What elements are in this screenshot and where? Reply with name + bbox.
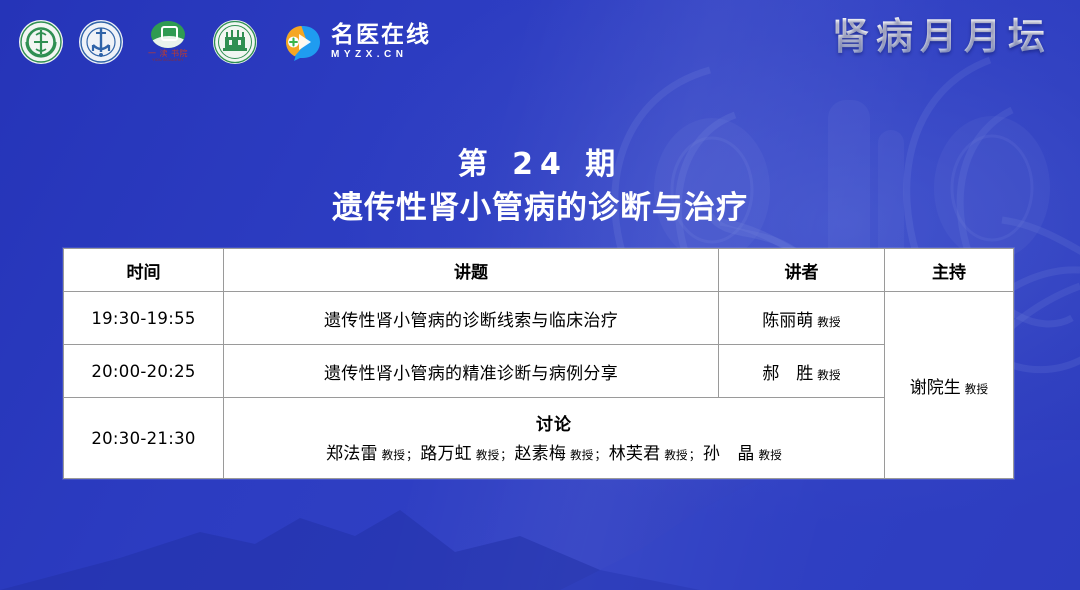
myzx-play-bubble-icon (282, 22, 322, 62)
session-time: 19:30-19:55 (64, 292, 224, 345)
column-header-time: 时间 (64, 249, 224, 292)
session-topic: 遗传性肾小管病的诊断与治疗 (0, 189, 1080, 228)
table-row: 20:00-20:25 遗传性肾小管病的精准诊断与病例分享 郝 胜教授 (64, 345, 1014, 398)
academy-name-cn: 一 渎 书院 (148, 50, 188, 58)
speaker-name: 陈丽萌 (762, 311, 813, 331)
discussion-time: 20:30-21:30 (64, 398, 224, 479)
panelist-rank: 教授 (759, 448, 782, 462)
discussion-panelists: 郑法雷教授；路万虹教授；赵素梅教授；林芙君教授；孙 晶教授 (326, 439, 782, 464)
hospital-emblem-green-2-icon (212, 19, 258, 65)
session-speaker: 陈丽萌教授 (719, 292, 885, 345)
page-header: 一 渎 书院 YIDU ACADEMY (0, 0, 1080, 84)
yi-academy-logo-icon: 一 渎 书院 YIDU ACADEMY (138, 17, 198, 67)
slide-canvas: 一 渎 书院 YIDU ACADEMY (0, 0, 1080, 590)
panelist-rank: 教授 (570, 448, 593, 462)
panelist-name: 林芙君 (609, 444, 661, 464)
brand-name-cn: 名医在线 (331, 23, 431, 47)
column-header-topic: 讲题 (224, 249, 719, 292)
myzx-brand: 名医在线 MYZX.CN (282, 22, 431, 62)
session-host: 谢院生教授 (885, 292, 1014, 479)
panelist-name: 郑法雷 (326, 444, 378, 464)
academy-name-en: YIDU ACADEMY (152, 58, 184, 64)
title-block: 第 24 期 遗传性肾小管病的诊断与治疗 (0, 146, 1080, 227)
panelist-name: 赵素梅 (514, 444, 566, 464)
speaker-rank: 教授 (817, 315, 840, 329)
session-topic-cell: 遗传性肾小管病的精准诊断与病例分享 (224, 345, 719, 398)
discussion-cell: 讨论 郑法雷教授；路万虹教授；赵素梅教授；林芙君教授；孙 晶教授 (224, 398, 885, 479)
hospital-emblem-blue-icon (78, 19, 124, 65)
speaker-rank: 教授 (817, 368, 840, 382)
panelist-rank: 教授 (664, 448, 687, 462)
panelist-separator: ； (406, 448, 418, 462)
panelist-rank: 教授 (476, 448, 499, 462)
column-header-host: 主持 (885, 249, 1014, 292)
session-speaker: 郝 胜教授 (719, 345, 885, 398)
column-header-speaker: 讲者 (719, 249, 885, 292)
brand-name-en: MYZX.CN (331, 48, 431, 61)
issue-number: 第 24 期 (0, 146, 1080, 184)
series-title: 肾病月月坛 (832, 14, 1052, 60)
panelist-separator: ； (689, 448, 701, 462)
panelist-rank: 教授 (382, 448, 405, 462)
discussion-heading: 讨论 (536, 410, 572, 435)
panelist-separator: ； (500, 448, 512, 462)
schedule-table: 时间 讲题 讲者 主持 19:30-19:55 遗传性肾小管病的诊断线索与临床治… (63, 248, 1014, 479)
host-name: 谢院生 (910, 378, 961, 398)
partner-logo-strip: 一 渎 书院 YIDU ACADEMY (18, 14, 431, 70)
panelist-name: 孙 晶 (703, 444, 755, 464)
session-topic-cell: 遗传性肾小管病的诊断线索与临床治疗 (224, 292, 719, 345)
session-time: 20:00-20:25 (64, 345, 224, 398)
panelist-name: 路万虹 (420, 444, 472, 464)
table-header-row: 时间 讲题 讲者 主持 (64, 249, 1014, 292)
panelist-separator: ； (595, 448, 607, 462)
hospital-emblem-green-icon (18, 19, 64, 65)
table-row-discussion: 20:30-21:30 讨论 郑法雷教授；路万虹教授；赵素梅教授；林芙君教授；孙… (64, 398, 1014, 479)
host-rank: 教授 (965, 382, 988, 396)
speaker-name: 郝 胜 (762, 364, 813, 384)
table-row: 19:30-19:55 遗传性肾小管病的诊断线索与临床治疗 陈丽萌教授 谢院生教… (64, 292, 1014, 345)
